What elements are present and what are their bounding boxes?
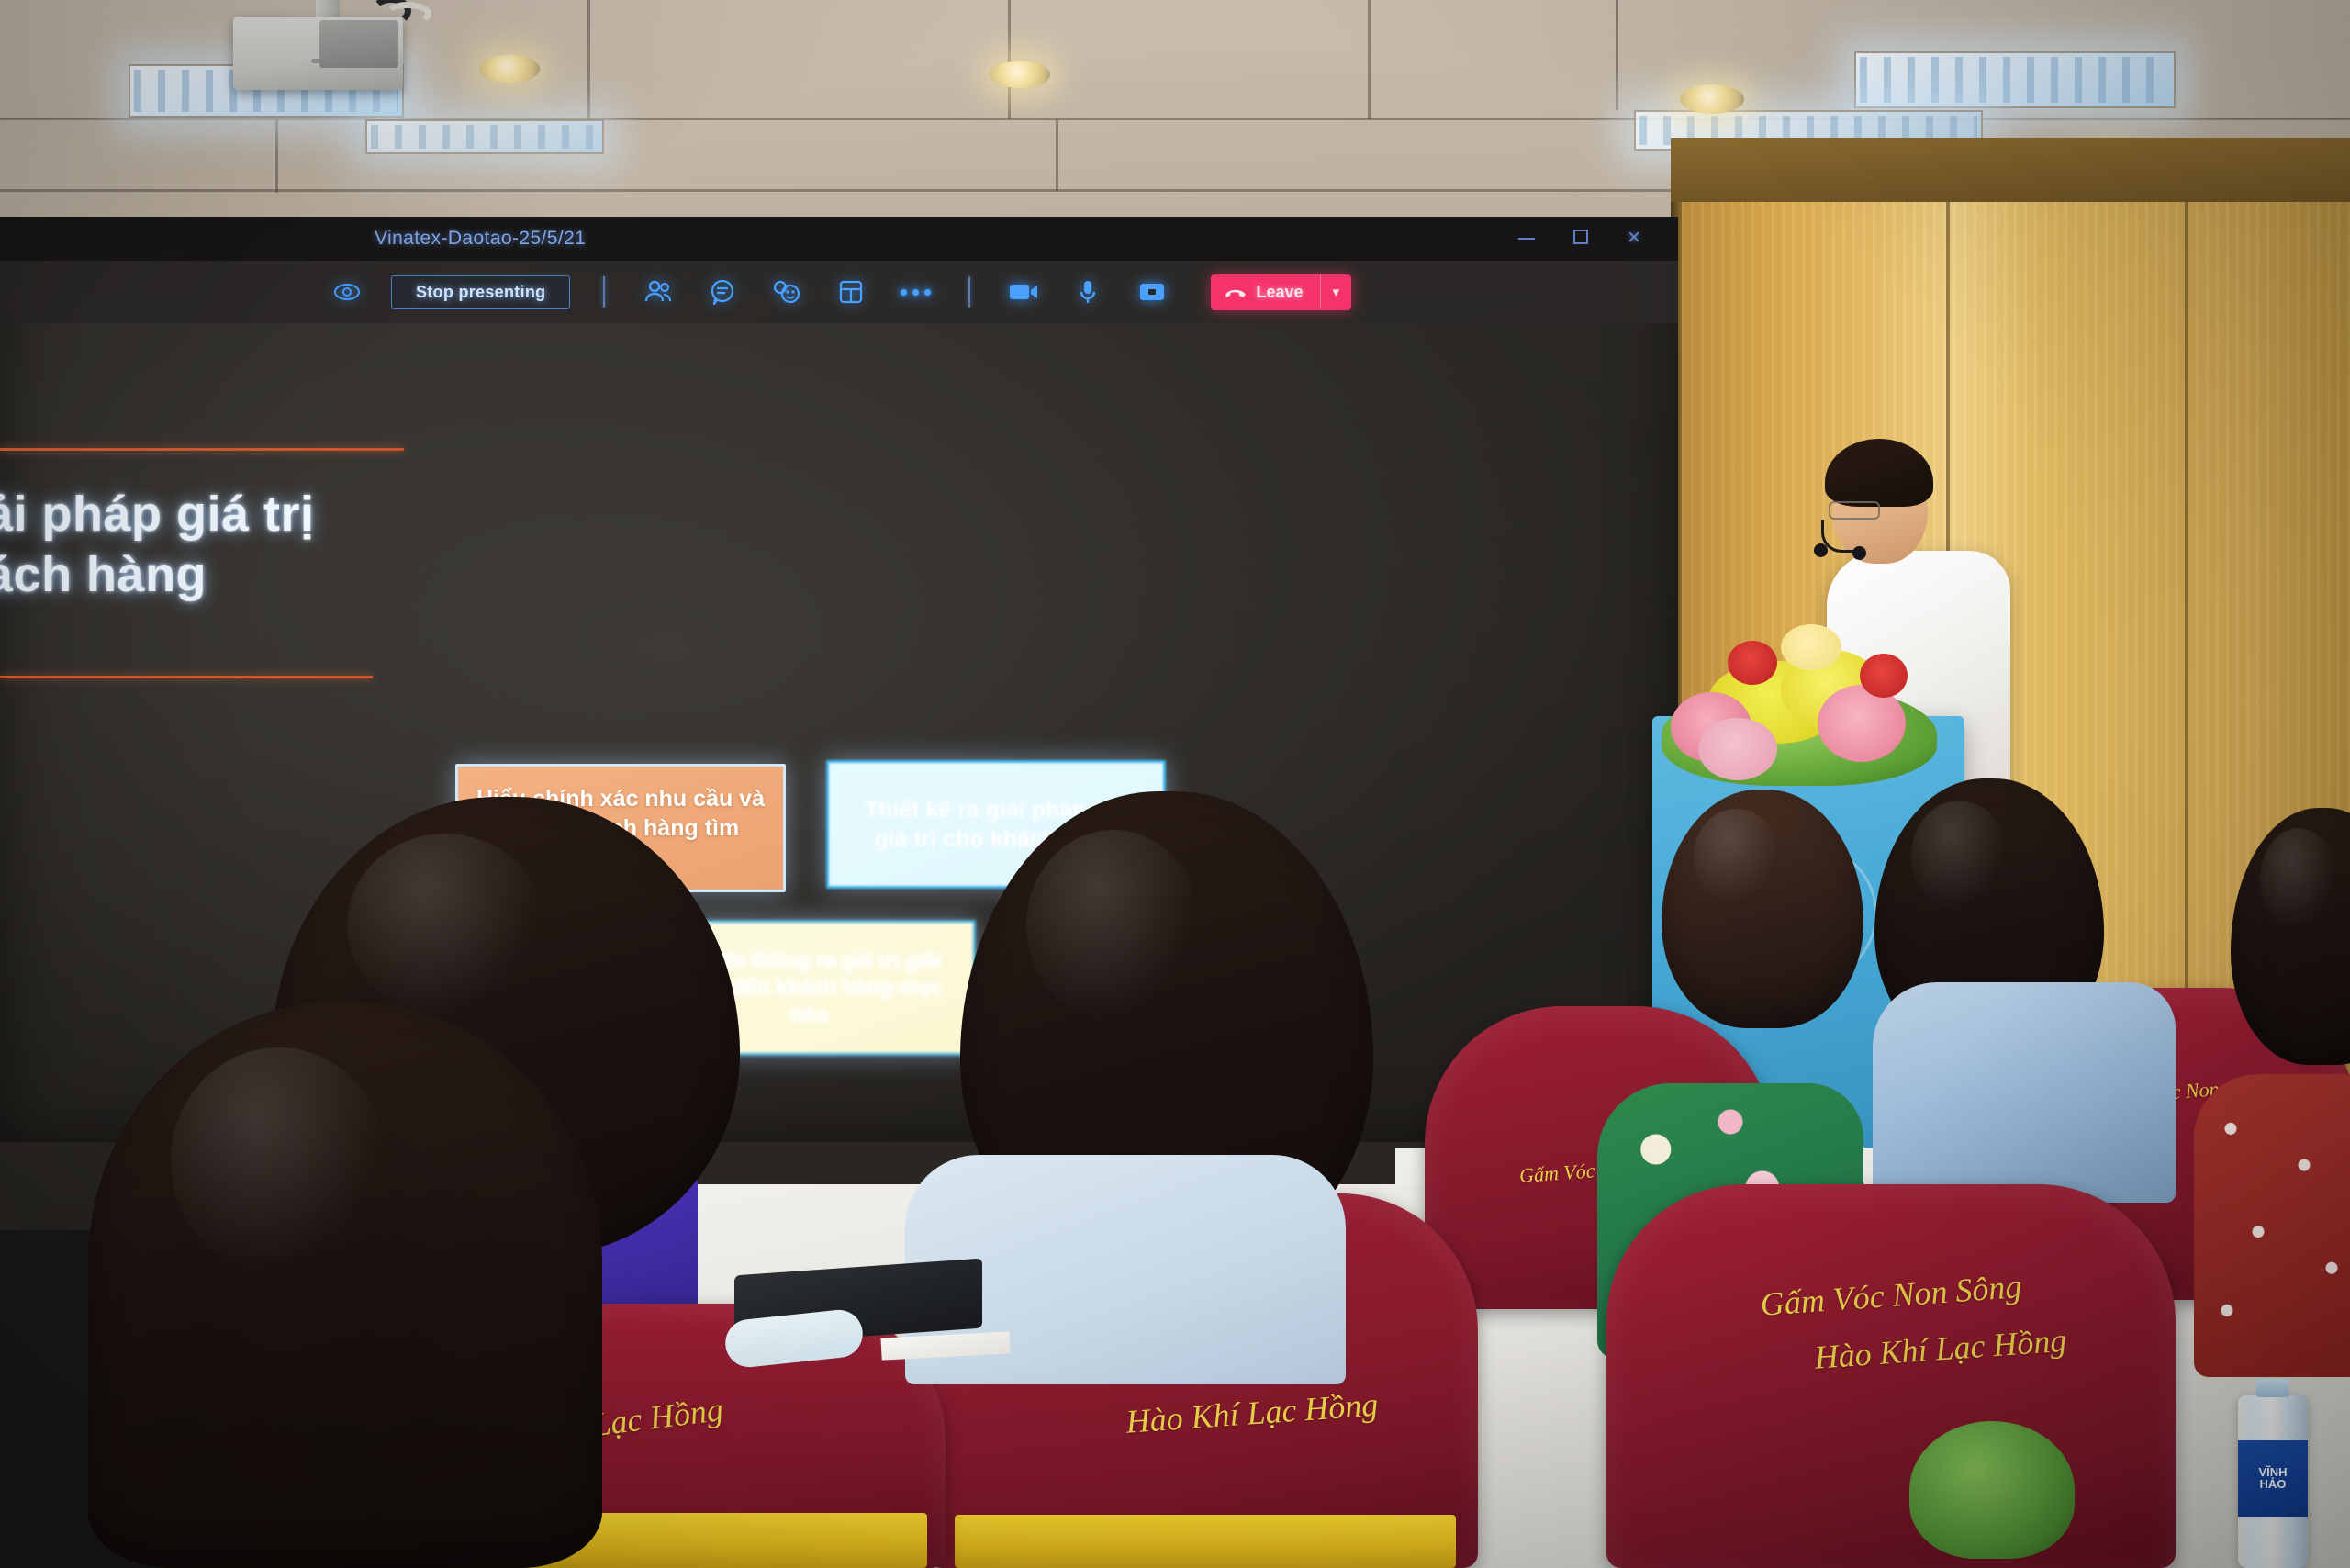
window-title: Vinatex-Daotao-25/5/21 — [375, 228, 586, 250]
people-icon[interactable] — [638, 274, 678, 309]
chair-sash — [955, 1515, 1456, 1568]
share-screen-icon[interactable] — [1132, 274, 1172, 309]
headset-earpiece — [1814, 543, 1828, 557]
bottle-label: VĨNH HẢO — [2238, 1440, 2308, 1517]
chair-embroidery-line-2: Hào Khí Lạc Hồng — [1655, 1310, 2225, 1388]
slide-rule-bottom — [0, 676, 373, 678]
teams-meeting-toolbar: Stop presenting — [0, 261, 1678, 323]
eye-icon[interactable] — [327, 274, 367, 309]
breakout-rooms-icon[interactable] — [831, 274, 871, 309]
leave-button[interactable]: Leave ▾ — [1211, 274, 1351, 310]
water-bottle-front-2: VĨNH HẢO — [2238, 1395, 2308, 1568]
attendee-head — [1662, 790, 1863, 1028]
wall-top-trim — [1671, 138, 2350, 202]
maximize-button[interactable] — [1573, 230, 1588, 248]
flower-arrangement — [1643, 597, 1974, 780]
teams-title-bar: Vinatex-Daotao-25/5/21 ✕ — [0, 217, 1678, 261]
chat-bubble-icon[interactable] — [702, 274, 743, 309]
attendee-polka-sleeve — [2194, 1074, 2350, 1377]
leave-label: Leave — [1256, 283, 1303, 302]
more-dots — [901, 289, 931, 296]
slide-title: ải pháp giá trị ách hàng — [0, 485, 380, 606]
stop-presenting-button[interactable]: Stop presenting — [391, 275, 571, 309]
chevron-down-icon[interactable]: ▾ — [1320, 275, 1352, 308]
ceiling-downlight — [1680, 84, 1744, 114]
attendee-head-foreground — [88, 1002, 602, 1568]
potted-plant — [1873, 1405, 2111, 1568]
slide-title-line-2: ách hàng — [0, 545, 380, 606]
attendee-blue-shirt — [1873, 982, 2176, 1203]
slide-rule-top — [0, 448, 404, 451]
hangup-icon — [1224, 285, 1248, 299]
more-options-icon[interactable] — [895, 274, 935, 309]
conference-room-photo: Vinatex-Daotao-25/5/21 ✕ Stop presenting — [0, 0, 2350, 1568]
ceiling-projector — [207, 0, 437, 103]
close-button[interactable]: ✕ — [1627, 230, 1641, 248]
ceiling-downlight — [990, 61, 1050, 88]
slide-title-line-1: ải pháp giá trị — [0, 485, 380, 545]
raise-hand-reactions-icon[interactable] — [767, 274, 807, 309]
toolbar-divider-2 — [968, 276, 970, 308]
minimize-button[interactable] — [1518, 230, 1535, 248]
window-controls: ✕ — [1518, 230, 1678, 248]
eyeglasses — [1829, 501, 1880, 520]
chair-embroidery-line-1: Gấm Vóc Non Sông — [1606, 1256, 2176, 1334]
chair-embroidery-line-2: Hào Khí Lạc Hồng — [976, 1374, 1527, 1451]
ceiling-light-panel — [1854, 51, 2176, 108]
ceiling-downlight — [479, 55, 540, 83]
microphone-icon[interactable] — [1068, 274, 1108, 309]
ceiling-light-panel — [365, 119, 604, 154]
camera-icon[interactable] — [1003, 274, 1044, 309]
toolbar-divider — [603, 276, 605, 308]
headset-mic-tip — [1852, 546, 1866, 560]
projection-screen: Vinatex-Daotao-25/5/21 ✕ Stop presenting — [0, 217, 1678, 1142]
